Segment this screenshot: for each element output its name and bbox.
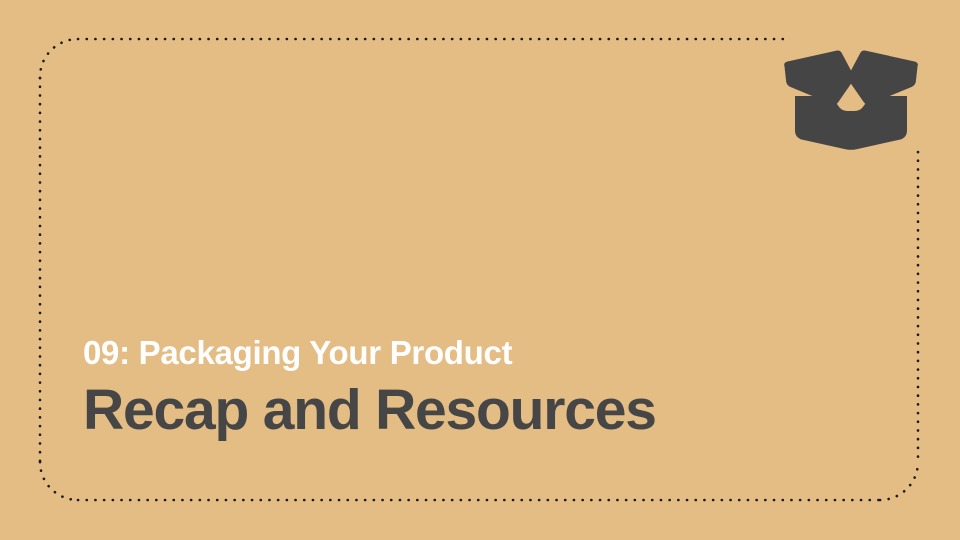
page-title: Recap and Resources	[83, 376, 903, 444]
frame-corner-bottom-left	[40, 462, 78, 500]
box-body	[795, 96, 907, 150]
open-box-icon	[779, 49, 923, 151]
frame-corner-bottom-right	[880, 462, 918, 500]
slide-canvas: 09: Packaging Your Product Recap and Res…	[0, 0, 960, 540]
section-eyebrow: 09: Packaging Your Product	[83, 330, 903, 376]
title-block: 09: Packaging Your Product Recap and Res…	[83, 330, 903, 444]
frame-corner-top-left	[40, 39, 78, 78]
